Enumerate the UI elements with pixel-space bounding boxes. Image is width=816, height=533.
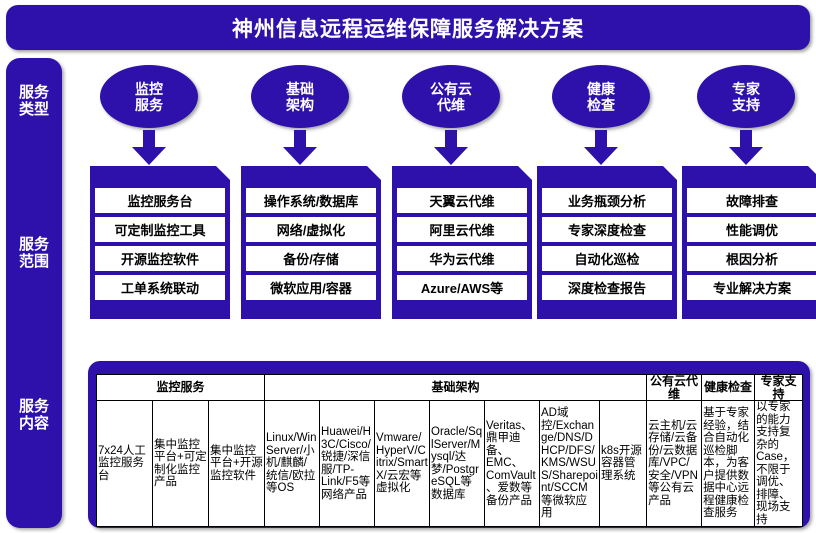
down-arrow-icon-1 [132, 130, 166, 165]
category-ellipse-monitoring-label: 监控服务 [135, 81, 163, 113]
table-cell: AD域控/Exchange/DNS/DHCP/DFS/KMS/WSUS/Shar… [540, 401, 600, 527]
category-ellipse-monitoring[interactable]: 监控服务 [100, 65, 198, 128]
down-arrow-icon-4 [584, 130, 618, 165]
table-group-header: 监控服务 [97, 375, 265, 401]
scope-item[interactable]: 根因分析 [687, 246, 816, 271]
scope-item[interactable]: 监控服务台 [95, 188, 225, 213]
scope-item[interactable]: 故障排查 [687, 188, 816, 213]
scope-item[interactable]: 深度检查报告 [542, 275, 672, 300]
table-cell: 基于专家经验，结合自动化巡检脚本，为客户提供数据中心远程健康检查服务 [702, 401, 755, 527]
scope-box-public-cloud: 天翼云代维 阿里云代维 华为云代维 Azure/AWS等 [392, 166, 532, 319]
scope-item[interactable]: 阿里云代维 [397, 217, 527, 242]
table-group-header: 专家支持 [755, 375, 803, 401]
scope-box-infrastructure: 操作系统/数据库 网络/虚拟化 备份/存储 微软应用/容器 [241, 166, 381, 319]
scope-item[interactable]: 华为云代维 [397, 246, 527, 271]
table-cell: k8s开源容器管理系统 [600, 401, 647, 527]
scope-item[interactable]: Azure/AWS等 [397, 275, 527, 300]
table-cell: Linux/WinServer/小机/麒麟/统信/欧拉等OS [265, 401, 320, 527]
rail-label-service-type: 服务 类型 [6, 84, 62, 118]
down-arrow-icon-2 [283, 130, 317, 165]
scope-item[interactable]: 自动化巡检 [542, 246, 672, 271]
rail-label-service-scope-line2: 范围 [6, 253, 62, 270]
rail-label-service-scope-line1: 服务 [6, 236, 62, 253]
scope-box-expert-support: 故障排查 性能调优 根因分析 专业解决方案 [682, 166, 816, 319]
category-ellipse-public-cloud-label: 公有云代维 [430, 81, 472, 113]
table-cell: 7x24人工监控服务台 [97, 401, 153, 527]
down-arrow-icon-5 [729, 130, 763, 165]
service-content-panel: 监控服务 基础架构 公有云代维 健康检查 专家支持 7x24人工监控服务台 集中… [88, 361, 810, 528]
table-cell: 以专家的能力支持复杂的Case，不限于调优、排障、现场支持 [755, 401, 803, 527]
scope-item[interactable]: 专业解决方案 [687, 275, 816, 300]
service-content-table: 监控服务 基础架构 公有云代维 健康检查 专家支持 7x24人工监控服务台 集中… [96, 374, 803, 527]
table-row: 7x24人工监控服务台 集中监控平台+可定制化监控产品 集中监控平台+开源监控软… [97, 401, 803, 527]
table-group-header: 健康检查 [702, 375, 755, 401]
table-cell: 集中监控平台+开源监控软件 [209, 401, 265, 527]
scope-item[interactable]: 微软应用/容器 [246, 275, 376, 300]
scope-box-monitoring: 监控服务台 可定制监控工具 开源监控软件 工单系统联动 [90, 166, 230, 319]
table-cell: 集中监控平台+可定制化监控产品 [153, 401, 209, 527]
scope-item[interactable]: 可定制监控工具 [95, 217, 225, 242]
category-ellipse-infrastructure-label: 基础架构 [286, 81, 314, 113]
down-arrow-icon-3 [434, 130, 468, 165]
page-title: 神州信息远程运维保障服务解决方案 [232, 13, 584, 43]
category-ellipse-health-check[interactable]: 健康检查 [552, 65, 650, 128]
diagram-stage: 神州信息远程运维保障服务解决方案 服务 类型 服务 范围 服务 内容 监控服务 … [0, 0, 816, 533]
rail-label-service-scope: 服务 范围 [6, 236, 62, 270]
scope-item[interactable]: 开源监控软件 [95, 246, 225, 271]
table-cell: 云主机/云存储/云备份/云数据库/VPC/安全/VPN等公有云产品 [647, 401, 702, 527]
scope-item[interactable]: 操作系统/数据库 [246, 188, 376, 213]
scope-item[interactable]: 天翼云代维 [397, 188, 527, 213]
title-banner: 神州信息远程运维保障服务解决方案 [6, 5, 810, 50]
table-cell: Oracle/SqlServer/Mysql/达梦/PostgreSQL等数据库 [430, 401, 485, 527]
category-ellipse-health-check-label: 健康检查 [587, 81, 615, 113]
rail-label-service-type-line2: 类型 [6, 101, 62, 118]
scope-item[interactable]: 工单系统联动 [95, 275, 225, 300]
rail-label-service-content-line2: 内容 [6, 415, 62, 432]
scope-item[interactable]: 网络/虚拟化 [246, 217, 376, 242]
table-group-header: 基础架构 [265, 375, 647, 401]
scope-item[interactable]: 业务瓶颈分析 [542, 188, 672, 213]
scope-box-health-check: 业务瓶颈分析 专家深度检查 自动化巡检 深度检查报告 [537, 166, 677, 319]
category-ellipse-public-cloud[interactable]: 公有云代维 [402, 65, 500, 128]
table-group-header-row: 监控服务 基础架构 公有云代维 健康检查 专家支持 [97, 375, 803, 401]
scope-item[interactable]: 备份/存储 [246, 246, 376, 271]
table-cell: Vmware/HyperV/Citrix/SmartX/云宏等虚拟化 [375, 401, 430, 527]
scope-item[interactable]: 性能调优 [687, 217, 816, 242]
left-rail: 服务 类型 服务 范围 服务 内容 [6, 58, 62, 528]
category-ellipse-expert-support[interactable]: 专家支持 [697, 65, 795, 128]
rail-label-service-content: 服务 内容 [6, 398, 62, 432]
category-ellipse-infrastructure[interactable]: 基础架构 [251, 65, 349, 128]
table-cell: Huawei/H3C/Cisco/锐捷/深信服/TP-Link/F5等网络产品 [320, 401, 375, 527]
rail-label-service-content-line1: 服务 [6, 398, 62, 415]
rail-label-service-type-line1: 服务 [6, 84, 62, 101]
table-group-header: 公有云代维 [647, 375, 702, 401]
category-ellipse-expert-support-label: 专家支持 [732, 81, 760, 113]
scope-item[interactable]: 专家深度检查 [542, 217, 672, 242]
table-cell: Veritas、鼎甲迪备、EMC、ComVault、爱数等备份产品 [485, 401, 540, 527]
